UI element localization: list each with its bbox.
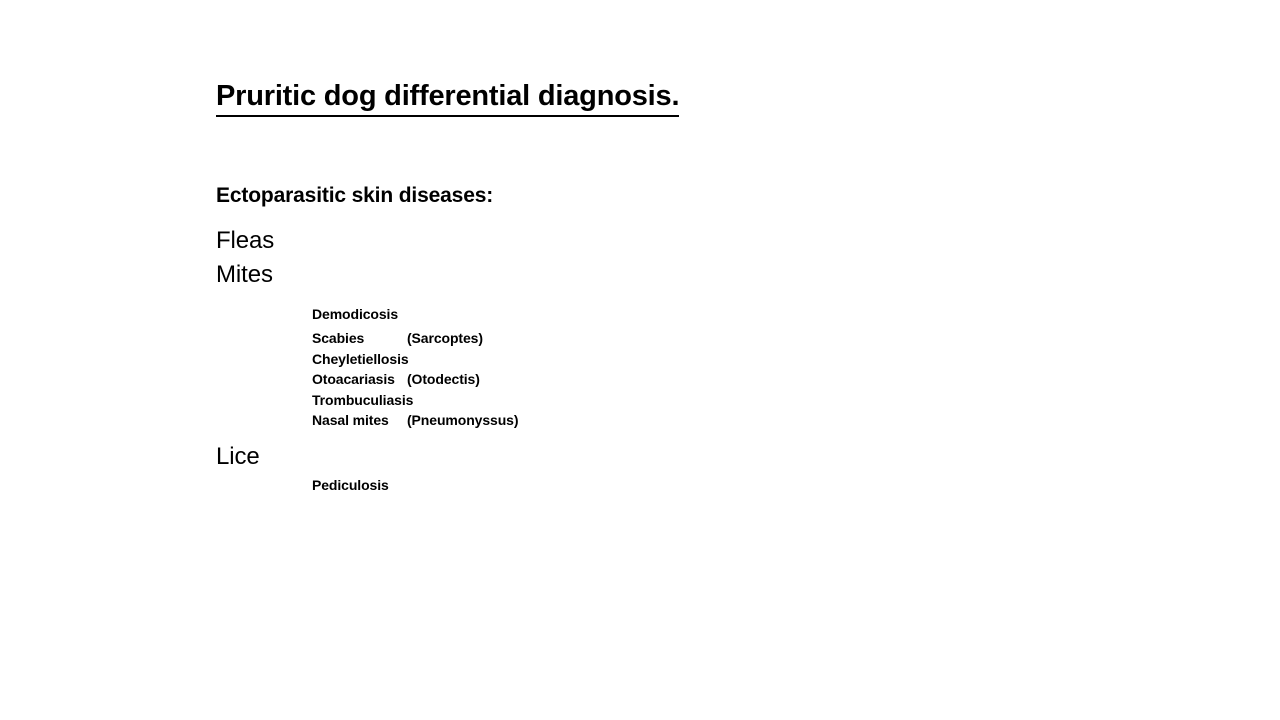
sub-item-term: Pediculosis	[312, 475, 389, 495]
sub-item-term: Scabies	[312, 328, 364, 348]
list-item: Scabies (Sarcoptes)	[312, 328, 413, 348]
category-lice: Lice	[216, 442, 260, 472]
list-item: Trombuculiasis	[312, 390, 413, 410]
slide-canvas: Pruritic dog differential diagnosis. Ect…	[0, 0, 1280, 720]
category-fleas: Fleas	[216, 226, 274, 256]
category-mites: Mites	[216, 260, 273, 290]
list-item: Pediculosis	[312, 475, 389, 495]
sub-item-term: Otoacariasis	[312, 369, 395, 389]
list-item: Cheyletiellosis	[312, 349, 413, 369]
list-item: Otoacariasis (Otodectis)	[312, 369, 413, 389]
sub-item-term: Trombuculiasis	[312, 390, 413, 410]
lice-sub-list: Pediculosis	[312, 475, 389, 495]
sub-item-term: Nasal mites	[312, 410, 389, 430]
section-heading: Ectoparasitic skin diseases:	[216, 182, 493, 209]
sub-item-agent: (Otodectis)	[407, 369, 480, 389]
sub-item-agent: (Sarcoptes)	[407, 328, 483, 348]
sub-item-term: Cheyletiellosis	[312, 349, 409, 369]
list-item: Nasal mites (Pneumonyssus)	[312, 410, 413, 430]
mites-sub-list: Demodicosis Scabies (Sarcoptes) Cheyleti…	[312, 304, 413, 430]
sub-item-term: Demodicosis	[312, 304, 398, 324]
sub-item-agent: (Pneumonyssus)	[407, 410, 518, 430]
list-item: Demodicosis	[312, 304, 413, 324]
page-title: Pruritic dog differential diagnosis.	[216, 78, 679, 117]
